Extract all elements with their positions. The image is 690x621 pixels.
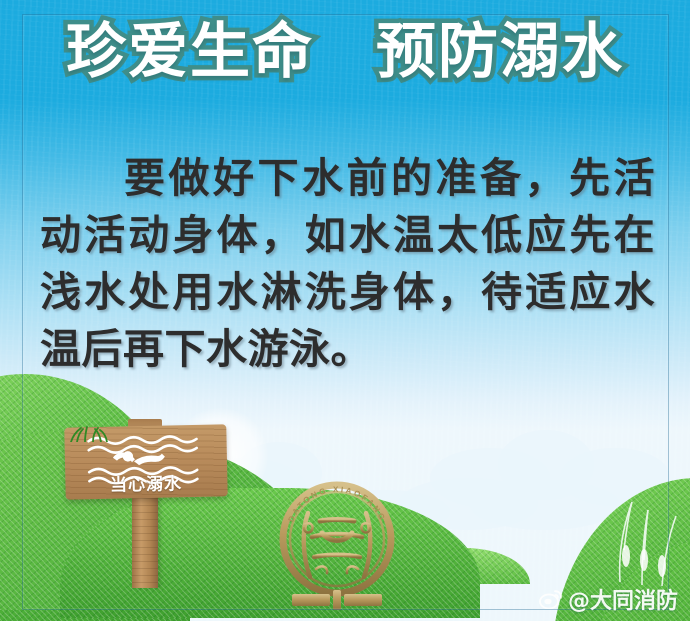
weibo-icon <box>539 589 563 609</box>
weibo-watermark: @大同消防 <box>539 583 678 615</box>
weibo-handle: @大同消防 <box>568 583 678 615</box>
poster-canvas: 当心溺水 <box>0 0 690 621</box>
warning-sign[interactable]: 当心溺水 <box>60 418 230 588</box>
grass-tuft-icon <box>65 426 113 442</box>
sign-label: 当心溺水 <box>60 468 232 497</box>
page-title: 珍爱生命 预防溺水 <box>0 22 690 82</box>
safety-message: 要做好下水前的准备，先活动活动身体，如水温太低应先在浅水处用水淋洗身体，待适应水… <box>40 150 655 378</box>
datong-fire-seal: DATONG XIAOFANG <box>278 477 396 613</box>
